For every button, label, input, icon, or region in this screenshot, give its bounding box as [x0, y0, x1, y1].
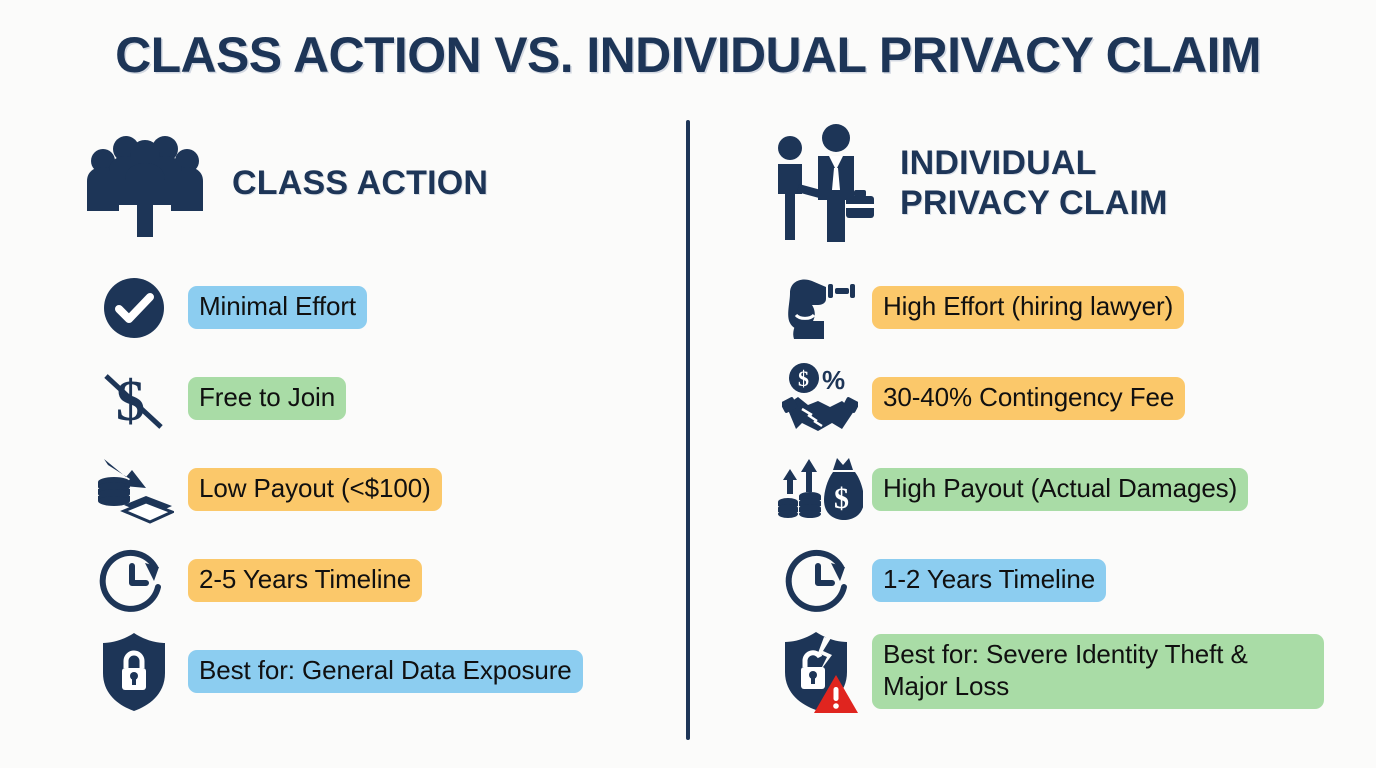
column-header-label: CLASS ACTION [232, 163, 488, 203]
feature-label: 2-5 Years Timeline [188, 559, 422, 603]
shield-lock-icon [80, 630, 188, 714]
column-divider [686, 120, 690, 740]
feature-row: 1-2 Years Timeline [768, 535, 1358, 626]
feature-label: Best for: Severe Identity Theft & Major … [872, 634, 1324, 709]
feature-row: Best for: Severe Identity Theft & Major … [768, 626, 1358, 717]
column-header-line2: PRIVACY CLAIM [900, 183, 1168, 223]
feature-row: $ % 30-40% Contingency Fee [768, 353, 1358, 444]
feature-label: 1-2 Years Timeline [872, 559, 1106, 603]
column-header-line1: CLASS ACTION [232, 164, 488, 202]
money-bag-growth-icon: $ [768, 454, 872, 526]
feature-row: $ Free to Join [80, 353, 680, 444]
money-decline-icon [80, 455, 188, 525]
feature-row: Low Payout (<$100) [80, 444, 680, 535]
feature-row: $ High Payout (Actual Damages) [768, 444, 1358, 535]
column-header-class-action: CLASS ACTION [80, 118, 680, 248]
feature-row: High Effort (hiring lawyer) [768, 262, 1358, 353]
muscle-dumbbell-icon [768, 275, 872, 341]
feature-label: Minimal Effort [188, 286, 367, 330]
feature-row: Best for: General Data Exposure [80, 626, 680, 717]
svg-text:%: % [822, 365, 845, 395]
feature-row: Minimal Effort [80, 262, 680, 353]
feature-list-individual: High Effort (hiring lawyer) $ % [768, 262, 1358, 717]
check-circle-icon [80, 275, 188, 341]
column-individual-privacy-claim: INDIVIDUAL PRIVACY CLAIM [768, 118, 1358, 717]
column-header-label: INDIVIDUAL PRIVACY CLAIM [900, 143, 1168, 223]
column-header-individual: INDIVIDUAL PRIVACY CLAIM [768, 118, 1358, 248]
column-class-action: CLASS ACTION Minimal Effort [80, 118, 680, 717]
infographic-canvas: CLASS ACTION VS. INDIVIDUAL PRIVACY CLAI… [0, 0, 1376, 768]
feature-list-class-action: Minimal Effort $ Free to Join [80, 262, 680, 717]
client-and-lawyer-icon [768, 122, 878, 244]
column-header-line1: INDIVIDUAL [900, 144, 1097, 182]
group-of-people-icon [80, 127, 210, 239]
feature-label: Low Payout (<$100) [188, 468, 442, 512]
feature-label: 30-40% Contingency Fee [872, 377, 1185, 421]
clock-arrow-icon [768, 547, 872, 615]
no-money-icon: $ [80, 363, 188, 435]
feature-label: High Effort (hiring lawyer) [872, 286, 1184, 330]
handshake-dollar-percent-icon: $ % [768, 361, 872, 437]
page-title: CLASS ACTION VS. INDIVIDUAL PRIVACY CLAI… [0, 26, 1376, 84]
broken-shield-warning-icon [768, 629, 872, 715]
feature-label: Best for: General Data Exposure [188, 650, 583, 694]
feature-label: Free to Join [188, 377, 346, 421]
feature-label: High Payout (Actual Damages) [872, 468, 1248, 512]
svg-text:$: $ [798, 366, 809, 391]
clock-arrow-icon [80, 547, 188, 615]
svg-text:$: $ [834, 482, 849, 515]
feature-row: 2-5 Years Timeline [80, 535, 680, 626]
